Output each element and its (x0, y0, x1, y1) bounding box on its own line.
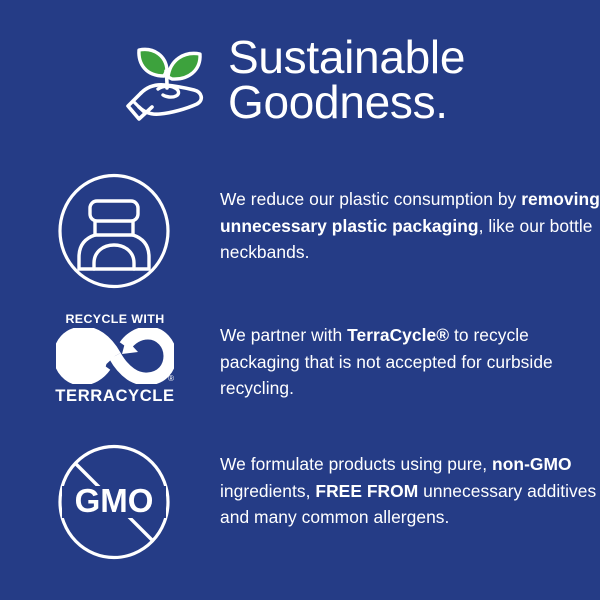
feature-icon-slot: GMO (0, 444, 220, 560)
page-title: Sustainable Goodness. (228, 35, 465, 129)
terracycle-logo: RECYCLE WITH ® TERRACYCLE (56, 312, 174, 405)
hand-holding-sprout-icon (118, 30, 222, 134)
feature-row-plastic-reduction: We reduce our plastic consumption by rem… (0, 173, 600, 289)
registered-trademark-icon: ® (168, 375, 174, 383)
poster-header: Sustainable Goodness. (0, 26, 600, 138)
sustainable-goodness-poster: Sustainable Goodness. We reduce ou (0, 0, 600, 600)
terracycle-wordmark: TERRACYCLE (55, 386, 174, 405)
plastic-bottle-circle-icon (56, 173, 172, 289)
feature-text-terracycle: We partner with TerraCycle® to recycle p… (220, 312, 600, 402)
infinity-recycle-arrows-icon: ® (56, 328, 174, 384)
no-gmo-circle-icon: GMO (56, 444, 172, 560)
no-gmo-label: GMO (75, 482, 154, 519)
feature-row-terracycle: RECYCLE WITH ® TERRACYCLE We partne (0, 312, 600, 405)
feature-icon-slot: RECYCLE WITH ® TERRACYCLE (0, 312, 220, 405)
terracycle-top-text: RECYCLE WITH (65, 312, 164, 326)
feature-text-plastic-reduction: We reduce our plastic consumption by rem… (220, 173, 600, 266)
feature-icon-slot (0, 173, 220, 289)
feature-row-non-gmo: GMO We formulate products using pure, no… (0, 444, 600, 560)
feature-text-non-gmo: We formulate products using pure, non-GM… (220, 444, 600, 531)
